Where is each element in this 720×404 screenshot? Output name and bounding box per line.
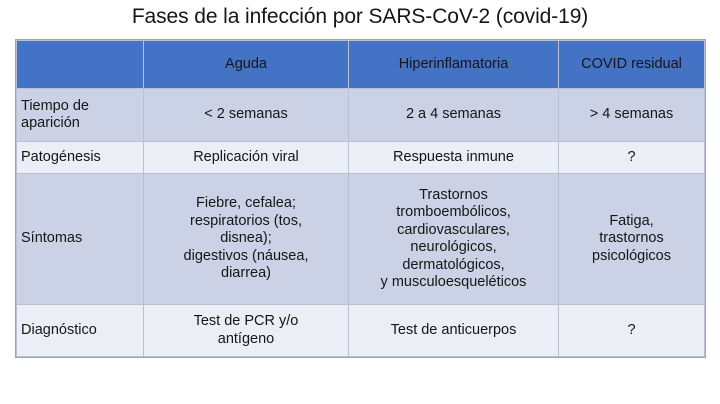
covid-phases-table: Aguda Hiperinflamatoria COVID residual T… (16, 40, 705, 357)
table-row: Síntomas Fiebre, cefalea; respiratorios … (17, 174, 705, 305)
table-header: Aguda Hiperinflamatoria COVID residual (17, 41, 705, 89)
cell-sintomas-hiperinflamatoria: Trastornos tromboembólicos, cardiovascul… (349, 174, 559, 305)
table-row: Diagnóstico Test de PCR y/o antígeno Tes… (17, 305, 705, 357)
slide-canvas: Fases de la infección por SARS-CoV-2 (co… (0, 0, 720, 404)
cell-tiempo-aguda: < 2 semanas (144, 89, 349, 142)
row-label-patogenesis: Patogénesis (17, 142, 144, 174)
table-body: Tiempo de aparición < 2 semanas 2 a 4 se… (17, 89, 705, 357)
cell-sintomas-aguda: Fiebre, cefalea; respiratorios (tos, dis… (144, 174, 349, 305)
table-header-row: Aguda Hiperinflamatoria COVID residual (17, 41, 705, 89)
cell-patogenesis-covid-residual: ? (559, 142, 705, 174)
row-label-tiempo-de-aparicion: Tiempo de aparición (17, 89, 144, 142)
cell-tiempo-covid-residual: > 4 semanas (559, 89, 705, 142)
cell-diagnostico-hiperinflamatoria: Test de anticuerpos (349, 305, 559, 357)
table-header-hiperinflamatoria: Hiperinflamatoria (349, 41, 559, 89)
cell-diagnostico-covid-residual: ? (559, 305, 705, 357)
cell-sintomas-covid-residual: Fatiga, trastornos psicológicos (559, 174, 705, 305)
cell-tiempo-hiperinflamatoria: 2 a 4 semanas (349, 89, 559, 142)
cell-patogenesis-aguda: Replicación viral (144, 142, 349, 174)
cell-patogenesis-hiperinflamatoria: Respuesta inmune (349, 142, 559, 174)
table-row: Tiempo de aparición < 2 semanas 2 a 4 se… (17, 89, 705, 142)
table-row: Patogénesis Replicación viral Respuesta … (17, 142, 705, 174)
table-header-covid-residual: COVID residual (559, 41, 705, 89)
cell-diagnostico-aguda: Test de PCR y/o antígeno (144, 305, 349, 357)
row-label-diagnostico: Diagnóstico (17, 305, 144, 357)
table-header-corner (17, 41, 144, 89)
table-header-aguda: Aguda (144, 41, 349, 89)
row-label-sintomas: Síntomas (17, 174, 144, 305)
page-title: Fases de la infección por SARS-CoV-2 (co… (0, 2, 720, 32)
